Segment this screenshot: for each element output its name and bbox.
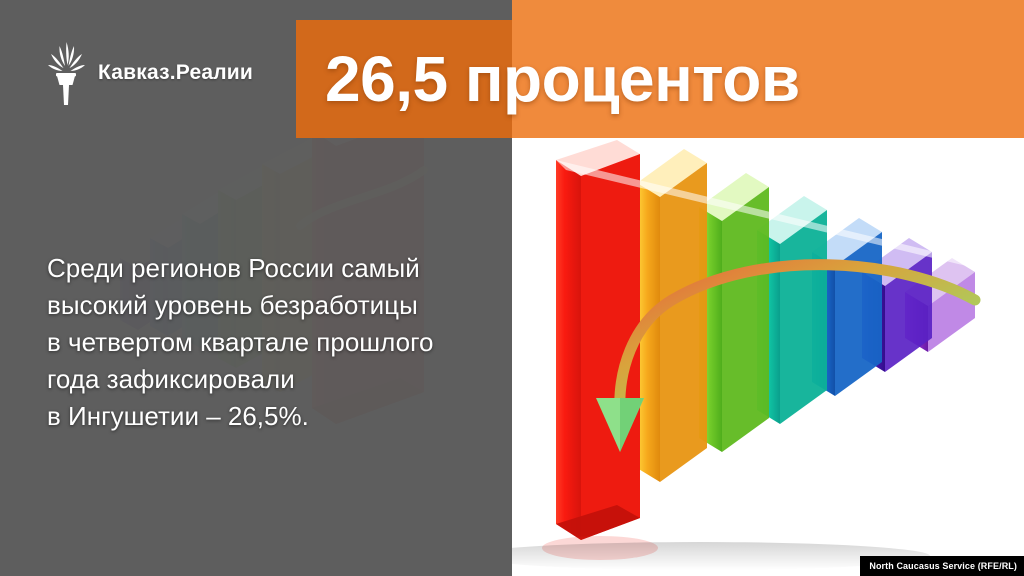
brand-logo[interactable]: Кавказ.Реалии [44, 40, 253, 106]
brand-wordmark: Кавказ.Реалии [98, 61, 253, 85]
body-line: высокий уровень безработицы [47, 287, 497, 324]
body-line: в четвертом квартале прошлого [47, 324, 497, 361]
photo-credit: North Caucasus Service (RFE/RL) [860, 556, 1024, 576]
body-line: Среди регионов России самый [47, 250, 497, 287]
torch-flame-icon [44, 40, 88, 106]
body-line: года зафиксировали [47, 361, 497, 398]
body-text-block: Среди регионов России самый высокий уров… [47, 250, 497, 435]
infographic-root: Кавказ.Реалии 26,5 процентов Среди регио… [0, 0, 1024, 576]
headline-text: 26,5 процентов [325, 37, 1015, 121]
banner-top-cap [512, 0, 1024, 20]
body-line: в Ингушетии – 26,5%. [47, 398, 497, 435]
